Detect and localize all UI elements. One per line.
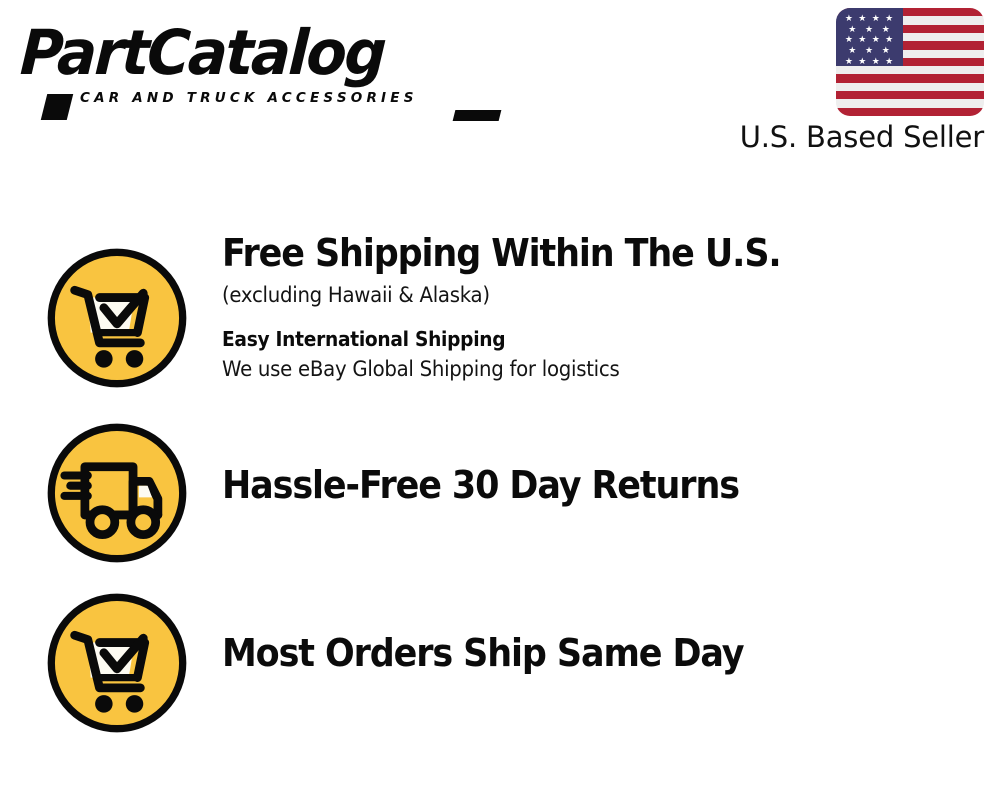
flag-star-icon: ★ (845, 35, 853, 44)
shopping-cart-check-icon (44, 245, 190, 391)
us-based-seller-label: U.S. Based Seller (500, 120, 984, 154)
feature-text-block: Hassle-Free 30 Day Returns (222, 462, 982, 508)
feature-row: Most Orders Ship Same Day (0, 590, 1000, 740)
flag-canton: ★★★★★★★★★★★★★★★★★★ (836, 8, 903, 66)
flag-star-icon: ★ (845, 57, 853, 66)
logo-swash-right-icon (453, 110, 502, 121)
feature-subnote: We use eBay Global Shipping for logistic… (222, 354, 936, 384)
flag-star-icon: ★ (858, 35, 866, 44)
feature-subheading: Easy International Shipping (222, 324, 929, 354)
page-header: PartCatalog CAR AND TRUCK ACCESSORIES ★★… (0, 0, 1000, 170)
flag-star-icon: ★ (872, 35, 880, 44)
feature-row: Hassle-Free 30 Day Returns (0, 420, 1000, 570)
flag-star-icon: ★ (845, 14, 853, 23)
feature-subtext: (excluding Hawaii & Alaska) (222, 280, 936, 310)
flag-star-icon: ★ (872, 57, 880, 66)
flag-star-icon: ★ (872, 14, 880, 23)
brand-logo[interactable]: PartCatalog CAR AND TRUCK ACCESSORIES (22, 22, 492, 112)
flag-star-icon: ★ (865, 25, 873, 34)
feature-text-block: Free Shipping Within The U.S. (excluding… (222, 230, 982, 384)
feature-heading: Free Shipping Within The U.S. (222, 230, 921, 276)
flag-star-icon: ★ (885, 57, 893, 66)
usa-flag-icon: ★★★★★★★★★★★★★★★★★★ (836, 8, 984, 116)
feature-row: Free Shipping Within The U.S. (excluding… (0, 230, 1000, 410)
flag-star-icon: ★ (848, 46, 856, 55)
feature-heading: Most Orders Ship Same Day (222, 630, 921, 676)
flag-star-icon: ★ (858, 57, 866, 66)
flag-star-icon: ★ (848, 25, 856, 34)
flag-star-icon: ★ (882, 46, 890, 55)
delivery-truck-icon (44, 420, 190, 566)
logo-swash-left-icon (41, 94, 73, 120)
flag-stripe (836, 108, 984, 116)
feature-heading: Hassle-Free 30 Day Returns (222, 462, 921, 508)
shopping-cart-check-icon (44, 590, 190, 736)
feature-text-block: Most Orders Ship Same Day (222, 630, 982, 676)
flag-star-icon: ★ (858, 14, 866, 23)
logo-tagline: CAR AND TRUCK ACCESSORIES (80, 90, 418, 106)
flag-star-icon: ★ (885, 35, 893, 44)
flag-star-icon: ★ (882, 25, 890, 34)
logo-wordmark: PartCatalog (19, 22, 469, 84)
flag-star-icon: ★ (865, 46, 873, 55)
flag-star-icon: ★ (885, 14, 893, 23)
